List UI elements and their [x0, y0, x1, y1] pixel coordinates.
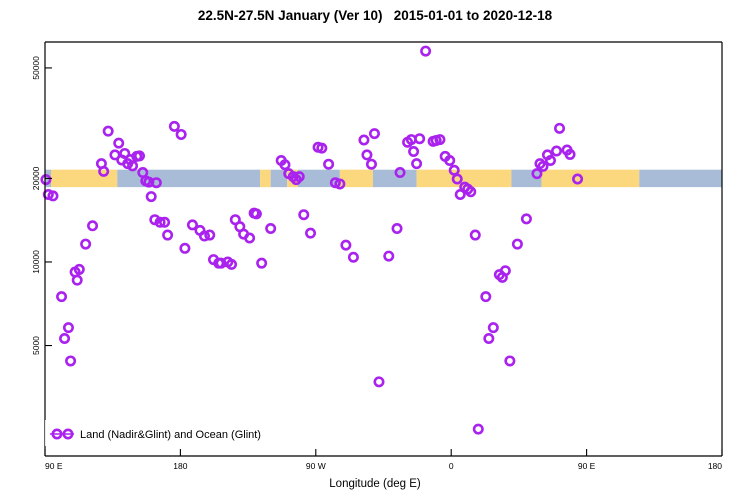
x-tick-label: 90 E [578, 461, 596, 471]
x-tick-label: 180 [708, 461, 722, 471]
band-segment-land [260, 170, 271, 187]
y-tick-label: 20000 [31, 166, 41, 190]
band-segment-land [417, 170, 512, 187]
scatter-plot: 5000100002000050000 90 E18090 W090 E180 … [0, 0, 750, 500]
x-tick-label: 90 E [45, 461, 63, 471]
band-segment-ocean [639, 170, 722, 187]
legend[interactable]: Land (Nadir&Glint) and Ocean (Glint) [45, 420, 297, 446]
y-tick-label: 50000 [31, 56, 41, 80]
figure-canvas: 22.5N-27.5N January (Ver 10) 2015-01-01 … [0, 0, 750, 500]
y-tick-label: 10000 [31, 250, 41, 274]
plot-area-background [45, 42, 722, 456]
x-tick-label: 90 W [306, 461, 326, 471]
x-axis-label: Longitude (deg E) [0, 478, 750, 490]
x-tick-label: 180 [173, 461, 187, 471]
x-tick-label: 0 [449, 461, 454, 471]
band-segment-land [541, 170, 639, 187]
legend-item-label: Land (Nadir&Glint) and Ocean (Glint) [80, 429, 261, 441]
page-title: 22.5N-27.5N January (Ver 10) 2015-01-01 … [0, 8, 750, 23]
y-tick-label: 5000 [31, 336, 41, 355]
